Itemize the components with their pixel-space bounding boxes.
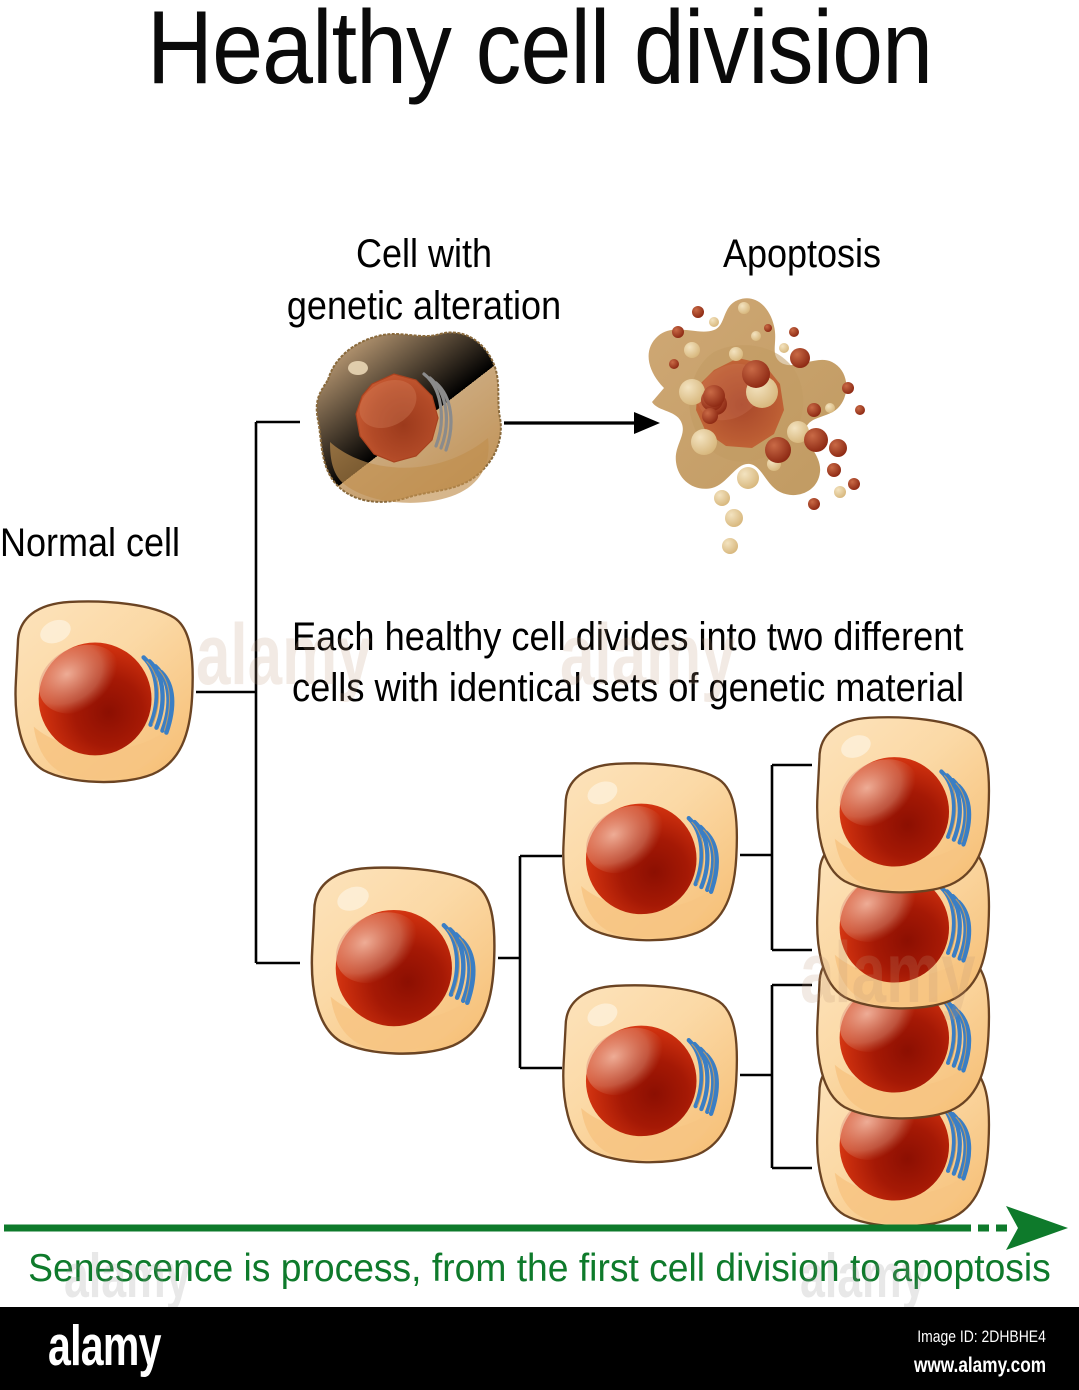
label-apoptosis: Apoptosis bbox=[631, 228, 973, 280]
connector-gen2b-to-gen3 bbox=[740, 985, 812, 1168]
gen3-cell-1-graphic bbox=[817, 717, 989, 892]
connector-gen1-to-gen2 bbox=[498, 856, 562, 1068]
caption-senescence: Senescence is process, from the first ce… bbox=[24, 1248, 1054, 1291]
gen2-cell-a-graphic bbox=[563, 763, 737, 940]
apoptotic-cell-graphic bbox=[649, 298, 865, 554]
gen1-cell-graphic bbox=[312, 868, 495, 1054]
label-normal-cell: Normal cell bbox=[0, 520, 180, 566]
diagram-canvas: Healthy cell division Normal cell Cell w… bbox=[0, 0, 1079, 1390]
arrow-altered-to-apoptosis bbox=[504, 412, 660, 434]
alamy-logo: alamy bbox=[48, 1318, 161, 1375]
gen2-cell-b-graphic bbox=[563, 985, 737, 1162]
label-altered-cell: Cell with genetic alteration bbox=[257, 228, 592, 332]
footer-url[interactable]: www.alamy.com bbox=[914, 1354, 1046, 1378]
caption-cell-division: Each healthy cell divides into two diffe… bbox=[292, 612, 953, 714]
normal-cell-graphic bbox=[16, 601, 193, 782]
footer-image-id: Image ID: 2DHBHE4 bbox=[917, 1327, 1046, 1347]
connector-gen2a-to-gen3 bbox=[740, 765, 812, 950]
connector-normal-to-branches bbox=[196, 422, 300, 963]
altered-cell-graphic bbox=[317, 332, 501, 502]
page-title: Healthy cell division bbox=[65, 0, 1015, 104]
